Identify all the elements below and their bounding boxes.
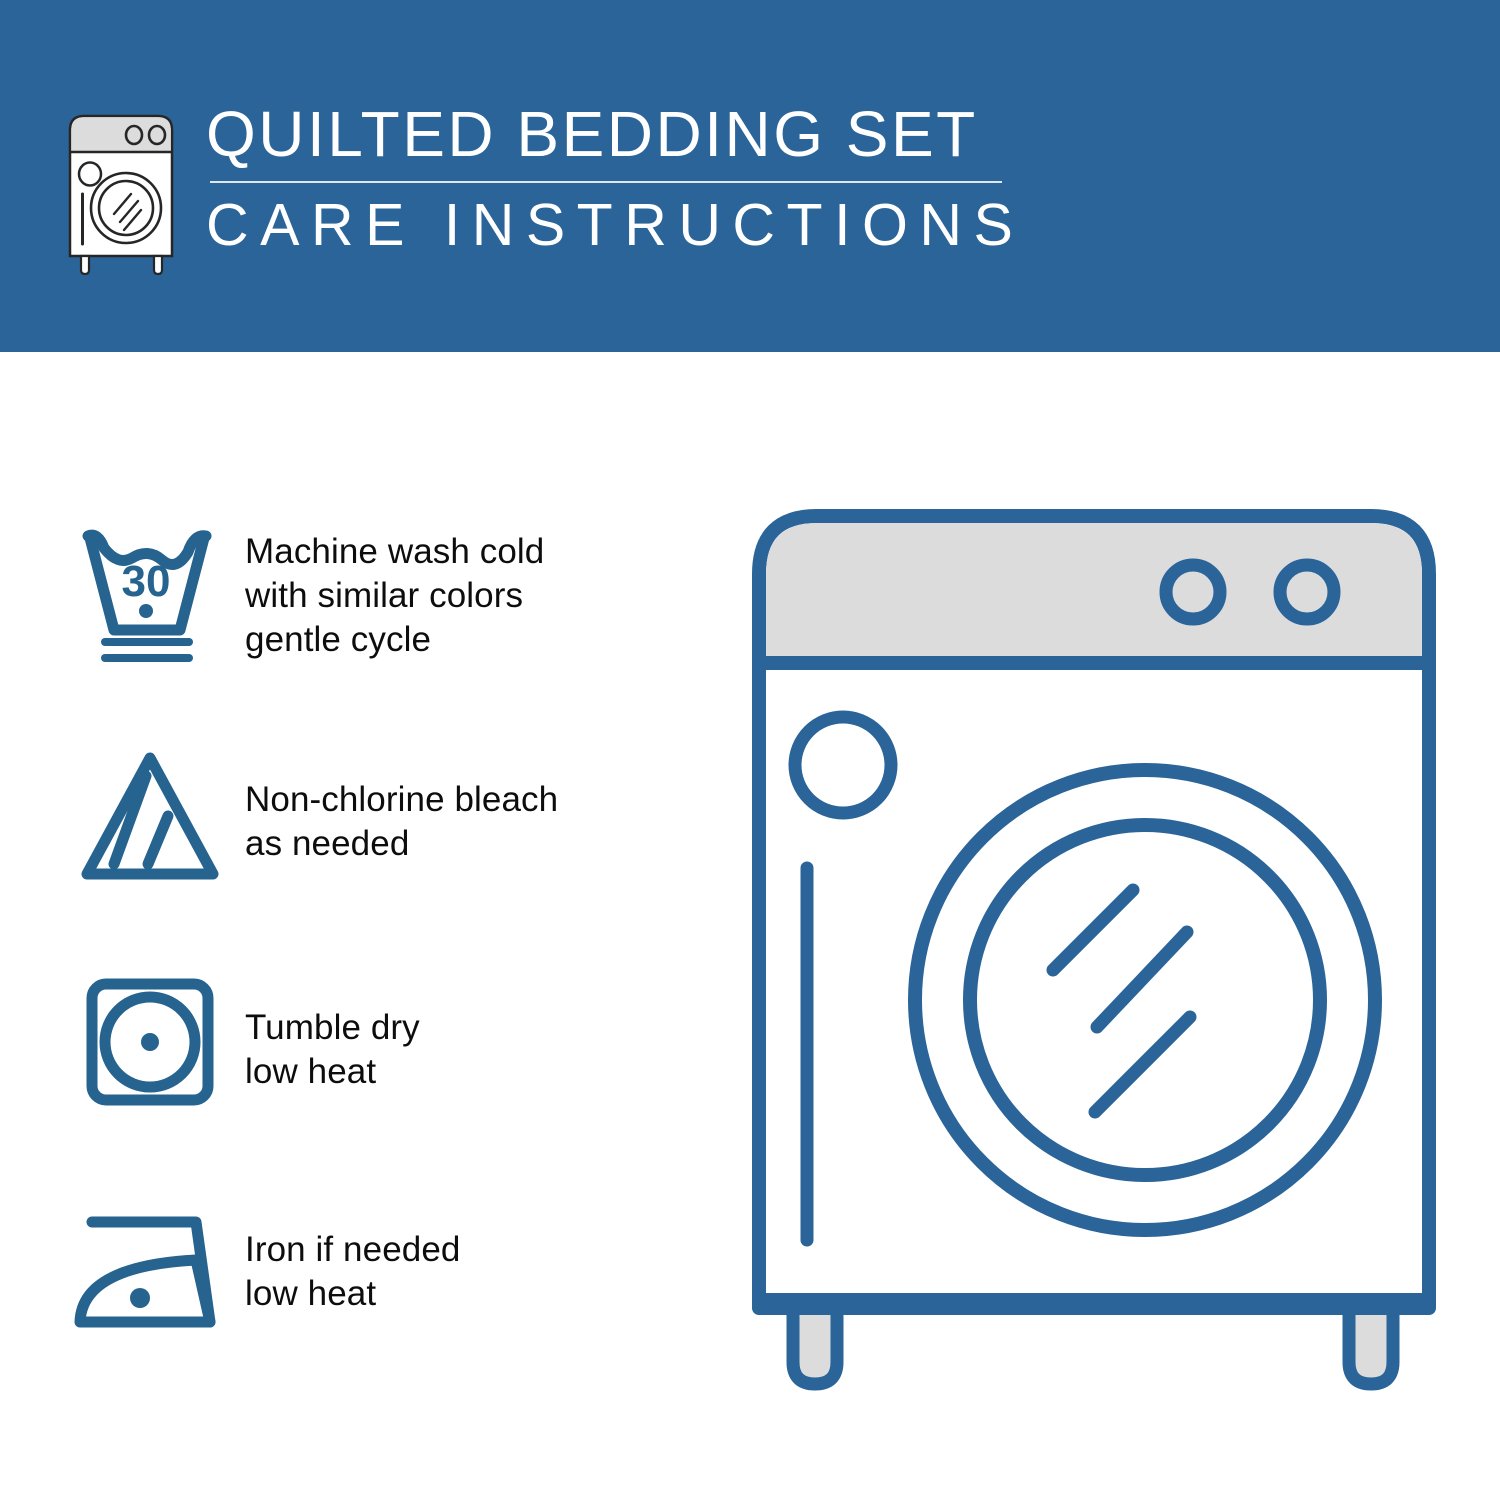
care-line: Iron if needed xyxy=(245,1228,710,1272)
wash-temperature-label: 30 xyxy=(122,557,171,606)
control-panel xyxy=(766,523,1422,660)
care-line: as needed xyxy=(245,822,710,866)
header-title-block: QUILTED BEDDING SET CARE INSTRUCTIONS xyxy=(206,96,1024,260)
care-text-iron: Iron if needed low heat xyxy=(245,1190,710,1316)
care-text-bleach: Non-chlorine bleach as needed xyxy=(245,730,710,866)
page-title: QUILTED BEDDING SET xyxy=(206,96,1024,172)
care-line: low heat xyxy=(245,1050,710,1094)
iron-low-heat-icon xyxy=(70,1200,238,1350)
care-line: Tumble dry xyxy=(245,1006,710,1050)
care-icon-slot xyxy=(70,960,245,1116)
care-row-machine-wash: 30 Machine wash cold with similar colors… xyxy=(70,500,710,730)
care-row-bleach: Non-chlorine bleach as needed xyxy=(70,730,710,960)
care-line: gentle cycle xyxy=(245,618,710,662)
tumble-dry-low-icon xyxy=(70,966,238,1116)
header-content: QUILTED BEDDING SET CARE INSTRUCTIONS xyxy=(62,96,1024,276)
care-instruction-list: 30 Machine wash cold with similar colors… xyxy=(70,500,710,1420)
care-line: with similar colors xyxy=(245,574,710,618)
title-divider xyxy=(210,181,1002,183)
care-row-iron: Iron if needed low heat xyxy=(70,1190,710,1420)
care-icon-slot: 30 xyxy=(70,500,245,668)
care-line: Non-chlorine bleach xyxy=(245,778,710,822)
care-icon-slot xyxy=(70,730,245,890)
washing-machine-icon xyxy=(62,108,180,276)
header-banner: QUILTED BEDDING SET CARE INSTRUCTIONS xyxy=(0,0,1500,352)
care-text-machine-wash: Machine wash cold with similar colors ge… xyxy=(245,500,710,662)
non-chlorine-bleach-triangle-icon xyxy=(70,740,238,890)
care-line: low heat xyxy=(245,1272,710,1316)
wash-tub-30-gentle-icon: 30 xyxy=(70,518,238,668)
care-icon-slot xyxy=(70,1190,245,1350)
care-text-tumble-dry: Tumble dry low heat xyxy=(245,960,710,1094)
page-subtitle: CARE INSTRUCTIONS xyxy=(206,190,1024,260)
care-line: Machine wash cold xyxy=(245,530,710,574)
front-load-washing-machine-illustration xyxy=(745,500,1455,1420)
care-row-tumble-dry: Tumble dry low heat xyxy=(70,960,710,1190)
